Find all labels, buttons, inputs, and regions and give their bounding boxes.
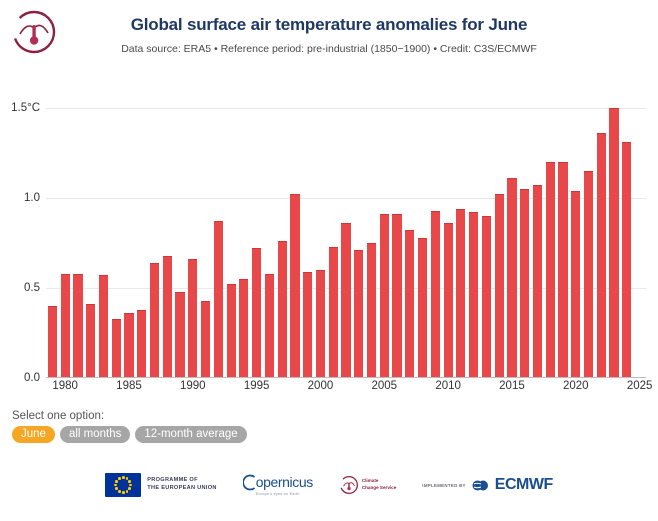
bar[interactable] [546,162,555,378]
copernicus-swoosh-icon [243,474,256,491]
bar-slot [429,90,442,378]
bar-slot [557,90,570,378]
bar-slot [365,90,378,378]
eu-star-icon [129,484,132,487]
x-axis-tick-label: 2025 [627,380,653,392]
ecmwf-globe-icon [472,478,489,493]
footer-logos: Programme of the European Union opernicu… [0,466,658,504]
bar-slot [480,90,493,378]
bar[interactable] [175,292,184,378]
chart: 0.00.51.01.5°C 1980198519901995200020052… [0,72,658,402]
bar[interactable] [201,301,210,378]
x-axis-tick-label: 2010 [435,380,461,392]
bar-slot [608,90,621,378]
bar-slot [506,90,519,378]
eu-star-icon [122,491,125,494]
x-axis-tick-label: 1995 [244,380,270,392]
gridline [46,378,646,379]
bar[interactable] [112,319,121,378]
bar-slot [455,90,468,378]
eu-text-line2: the European Union [147,485,216,493]
x-axis-tick-label: 2015 [499,380,525,392]
eu-star-icon [118,490,121,493]
bar-slot [416,90,429,378]
bar[interactable] [303,272,312,378]
bar-slot [59,90,72,378]
bar[interactable] [290,194,299,378]
bar[interactable] [252,248,261,378]
bar[interactable] [61,274,70,378]
bar-slot [84,90,97,378]
option-pill-all-months[interactable]: all months [60,426,130,443]
bar-slot [199,90,212,378]
eu-flag-icon [105,473,141,497]
eu-star-icon [126,490,129,493]
c3s-thermometer-small-icon [339,475,359,495]
bar-slot [174,90,187,378]
select-one-option-label: Select one option: [12,410,247,422]
bar[interactable] [533,185,542,378]
c3s-logo: Climate Change Service [339,475,396,495]
option-pill-12-month-average[interactable]: 12-month average [135,426,246,443]
chart-subtitle: Data source: ERA5 • Reference period: pr… [0,35,658,55]
ecmwf-logo: Implemented by ECMWF [422,476,552,494]
copernicus-tagline: Europe's eyes on Earth [256,492,300,496]
eu-star-icon [114,484,117,487]
ecmwf-wordmark: ECMWF [495,476,553,494]
bar[interactable] [558,162,567,378]
bar-slot [403,90,416,378]
eu-text-line1: Programme of [147,477,216,485]
bar[interactable] [265,274,274,378]
x-axis-tick-label: 1980 [52,380,78,392]
c3s-thermometer-icon [10,8,58,56]
y-axis-tick-label: 1.0 [24,192,40,204]
bar-slot [314,90,327,378]
bar[interactable] [227,284,236,378]
bar[interactable] [367,243,376,378]
bar[interactable] [444,223,453,378]
bar-slot [289,90,302,378]
c3s-logo-text: Climate Change Service [362,478,396,492]
bar[interactable] [354,250,363,378]
copernicus-wordmark: opernicus [256,475,313,489]
bar[interactable] [609,108,618,378]
axis-baseline [46,377,646,378]
y-axis-tick-label: 1.5°C [11,102,40,114]
x-axis: 1980198519901995200020052010201520202025 [46,380,646,400]
bar-slot [582,90,595,378]
bar[interactable] [48,306,57,378]
bar[interactable] [73,274,82,378]
bar[interactable] [495,194,504,378]
x-axis-tick-label: 2020 [563,380,589,392]
c3s-text-line2: Change Service [362,485,396,492]
bar-slot [250,90,263,378]
bar-slot [263,90,276,378]
bar-slot [531,90,544,378]
implemented-by-label: Implemented by [422,483,465,488]
x-axis-tick-label: 2005 [372,380,398,392]
eu-star-icon [122,476,125,479]
option-pill-group: Juneall months12-month average [12,426,247,443]
bar[interactable] [329,247,338,378]
bar-series [46,90,646,378]
bar-slot [327,90,340,378]
bar-slot [123,90,136,378]
bar-slot [276,90,289,378]
bar[interactable] [239,279,248,378]
bar[interactable] [137,310,146,378]
option-pill-june[interactable]: June [12,426,55,443]
bar-slot [135,90,148,378]
bar[interactable] [124,313,133,378]
option-selector: Select one option: Juneall months12-mont… [12,410,247,443]
bar[interactable] [278,241,287,378]
bar-slot [544,90,557,378]
bar-slot [633,90,646,378]
bar[interactable] [341,223,350,378]
bar-slot [186,90,199,378]
header: Global surface air temperature anomalies… [0,0,658,62]
bar-slot [72,90,85,378]
bar[interactable] [392,214,401,378]
bar[interactable] [214,221,223,378]
bar-slot [225,90,238,378]
x-axis-tick-label: 2000 [308,380,334,392]
bar-slot [569,90,582,378]
bar[interactable] [469,212,478,378]
eu-star-icon [128,480,131,483]
y-axis-tick-label: 0.0 [24,372,40,384]
eu-star-icon [128,487,131,490]
x-axis-tick-label: 1990 [180,380,206,392]
bar[interactable] [571,191,580,378]
bar-slot [301,90,314,378]
bar[interactable] [86,304,95,378]
bar-slot [212,90,225,378]
eu-logo-text: Programme of the European Union [147,477,216,492]
bar-slot [161,90,174,378]
bar-slot [391,90,404,378]
bar[interactable] [316,270,325,378]
bar[interactable] [456,209,465,378]
bar-slot [442,90,455,378]
plot-area: 0.00.51.01.5°C [46,90,646,378]
bar-slot [110,90,123,378]
copernicus-logo: opernicus Europe's eyes on Earth [243,474,313,497]
bar[interactable] [99,275,108,378]
bar-slot [46,90,59,378]
page-title: Global surface air temperature anomalies… [0,10,658,35]
bar[interactable] [597,133,606,378]
bar-slot [493,90,506,378]
bar[interactable] [163,256,172,378]
bar[interactable] [507,178,516,378]
c3s-text-line1: Climate [362,478,396,485]
bar-slot [97,90,110,378]
bar-slot [378,90,391,378]
bar-slot [595,90,608,378]
bar[interactable] [431,211,440,378]
bar[interactable] [482,216,491,378]
bar[interactable] [418,238,427,378]
eu-star-icon [118,477,121,480]
bar[interactable] [584,171,593,378]
bar-slot [467,90,480,378]
bar-slot [237,90,250,378]
bar[interactable] [380,214,389,378]
bar-slot [352,90,365,378]
bar[interactable] [150,263,159,378]
bar[interactable] [622,142,631,378]
x-axis-tick-label: 1985 [116,380,142,392]
bar-slot [620,90,633,378]
bar-slot [518,90,531,378]
eu-logo: Programme of the European Union [105,473,216,497]
bar-slot [340,90,353,378]
bar[interactable] [188,259,197,378]
eu-star-icon [115,480,118,483]
bar[interactable] [520,189,529,378]
bar-slot [148,90,161,378]
bar[interactable] [405,230,414,378]
y-axis-tick-label: 0.5 [24,282,40,294]
